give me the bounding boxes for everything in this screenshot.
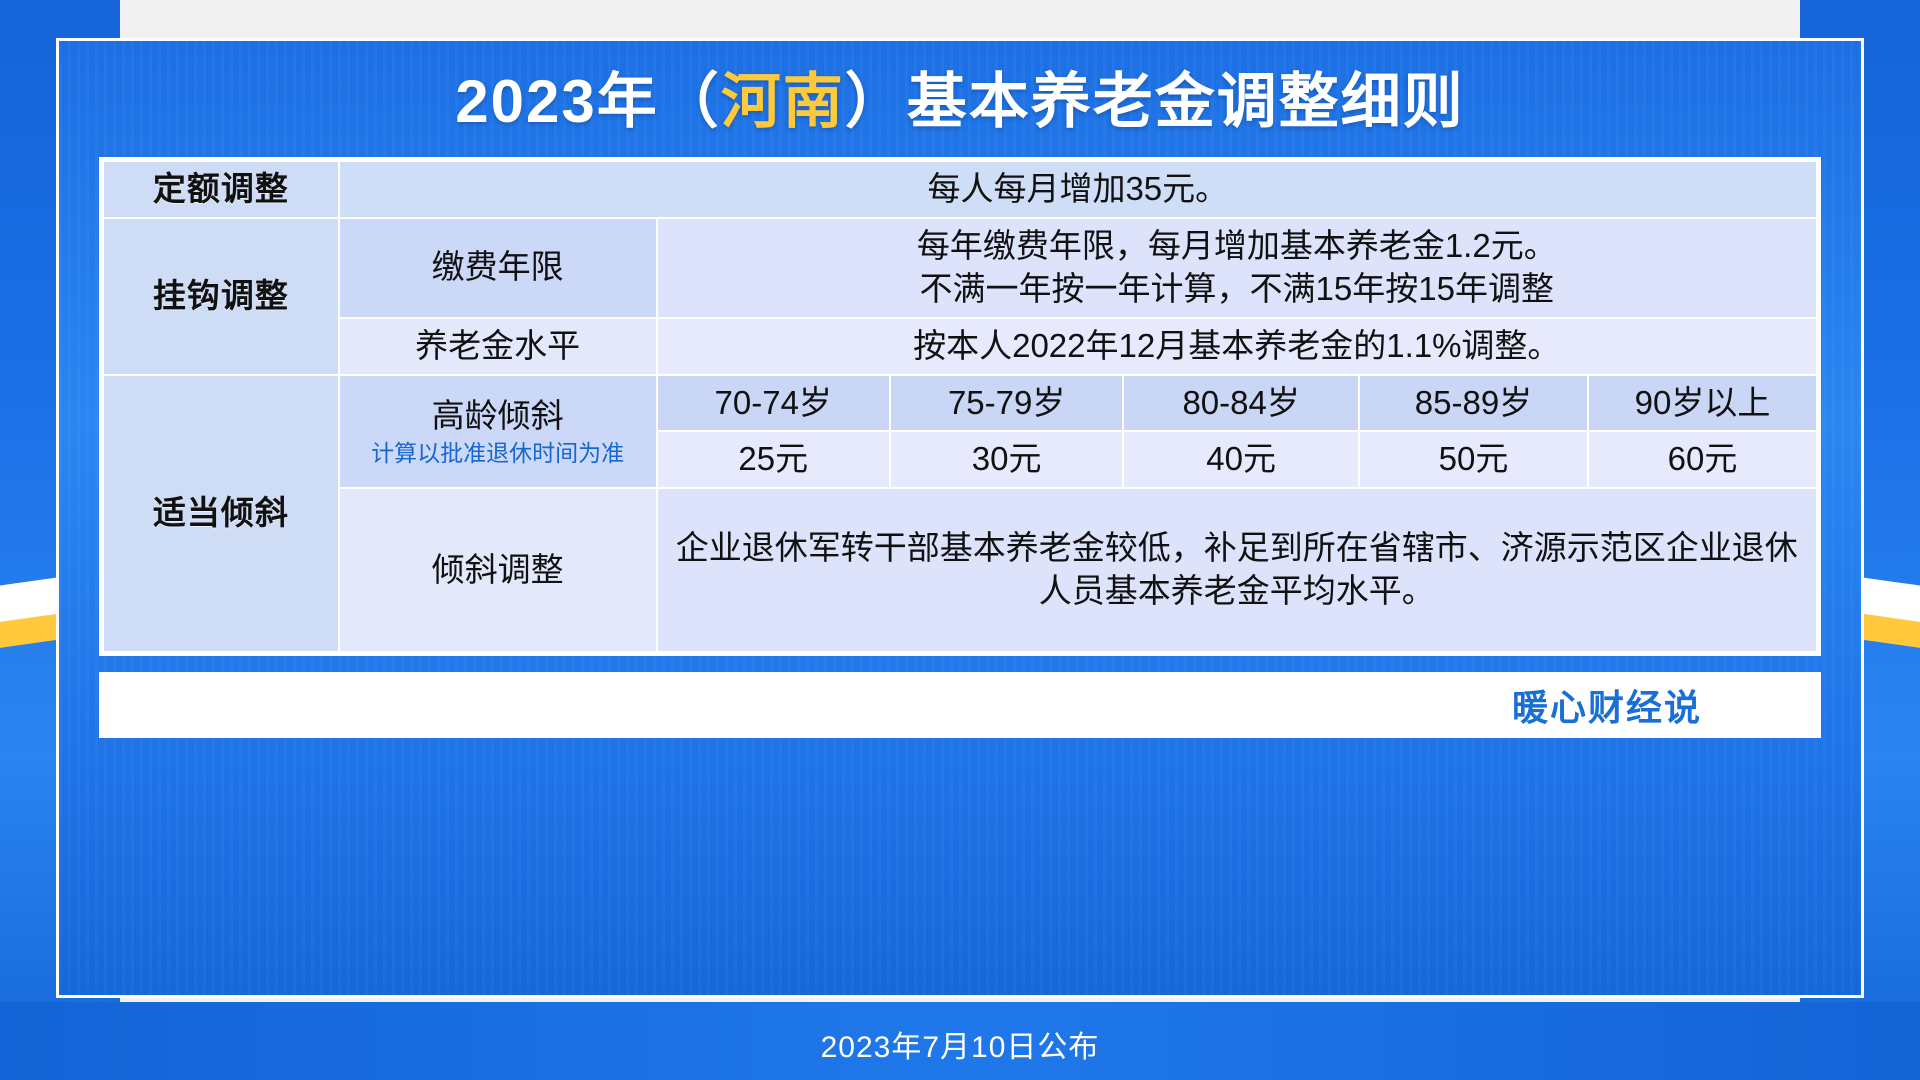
cell-age-amount: 30元 bbox=[890, 431, 1123, 488]
title-rest: 基本养老金调整细则 bbox=[907, 68, 1465, 135]
cell-sub-contribution-years: 缴费年限 bbox=[339, 218, 657, 318]
contribution-line-2: 不满一年按一年计算，不满15年按15年调整 bbox=[668, 268, 1806, 311]
cell-sub-tilt-adjust: 倾斜调整 bbox=[339, 488, 657, 652]
cell-age-bracket: 70-74岁 bbox=[657, 375, 890, 432]
age-tilt-title: 高龄倾斜 bbox=[432, 397, 564, 434]
page-title: 2023年（河南）基本养老金调整细则 bbox=[59, 41, 1861, 135]
cell-fixed-value: 每人每月增加35元。 bbox=[339, 161, 1817, 218]
signature-bar: 暖心财经说 bbox=[99, 672, 1821, 738]
row-label-fixed: 定额调整 bbox=[103, 161, 339, 218]
title-paren-open: （ bbox=[659, 68, 721, 135]
cell-sub-pension-level: 养老金水平 bbox=[339, 318, 657, 375]
table-row: 定额调整 每人每月增加35元。 bbox=[103, 161, 1817, 218]
cell-pension-level-text: 按本人2022年12月基本养老金的1.1%调整。 bbox=[657, 318, 1817, 375]
title-paren-close: ） bbox=[845, 68, 907, 135]
cell-sub-age-tilt: 高龄倾斜 计算以批准退休时间为准 bbox=[339, 375, 657, 489]
cell-age-amount: 60元 bbox=[1588, 431, 1817, 488]
cell-age-bracket: 75-79岁 bbox=[890, 375, 1123, 432]
cell-age-bracket: 85-89岁 bbox=[1359, 375, 1588, 432]
watermark-signature: 暖心财经说 bbox=[1512, 679, 1702, 731]
cell-age-amount: 50元 bbox=[1359, 431, 1588, 488]
table-row: 养老金水平 按本人2022年12月基本养老金的1.1%调整。 bbox=[103, 318, 1817, 375]
cell-age-amount: 25元 bbox=[657, 431, 890, 488]
contribution-line-1: 每年缴费年限，每月增加基本养老金1.2元。 bbox=[668, 225, 1806, 268]
row-label-linked: 挂钩调整 bbox=[103, 218, 339, 375]
table-row: 倾斜调整 企业退休军转干部基本养老金较低，补足到所在省辖市、济源示范区企业退休人… bbox=[103, 488, 1817, 652]
row-label-tilt: 适当倾斜 bbox=[103, 375, 339, 653]
cell-age-bracket: 90岁以上 bbox=[1588, 375, 1817, 432]
infographic-card: 2023年（河南）基本养老金调整细则 定额调整 每人每月增加35元。 挂钩调整 … bbox=[56, 38, 1864, 998]
title-province: 河南 bbox=[721, 68, 845, 135]
cell-age-bracket: 80-84岁 bbox=[1123, 375, 1359, 432]
table-row: 适当倾斜 高龄倾斜 计算以批准退休时间为准 70-74岁 75-79岁 80-8… bbox=[103, 375, 1817, 432]
age-tilt-hint: 计算以批准退休时间为准 bbox=[350, 440, 646, 467]
cell-contribution-years-text: 每年缴费年限，每月增加基本养老金1.2元。 不满一年按一年计算，不满15年按15… bbox=[657, 218, 1817, 318]
table-sheet: 定额调整 每人每月增加35元。 挂钩调整 缴费年限 每年缴费年限，每月增加基本养… bbox=[102, 160, 1818, 653]
title-year: 2023年 bbox=[455, 68, 658, 135]
adjustment-table: 定额调整 每人每月增加35元。 挂钩调整 缴费年限 每年缴费年限，每月增加基本养… bbox=[99, 157, 1821, 656]
cell-age-amount: 40元 bbox=[1123, 431, 1359, 488]
cell-tilt-adjust-text: 企业退休军转干部基本养老金较低，补足到所在省辖市、济源示范区企业退休人员基本养老… bbox=[657, 488, 1817, 652]
publish-date: 2023年7月10日公布 bbox=[0, 1022, 1920, 1066]
table-row: 挂钩调整 缴费年限 每年缴费年限，每月增加基本养老金1.2元。 不满一年按一年计… bbox=[103, 218, 1817, 318]
